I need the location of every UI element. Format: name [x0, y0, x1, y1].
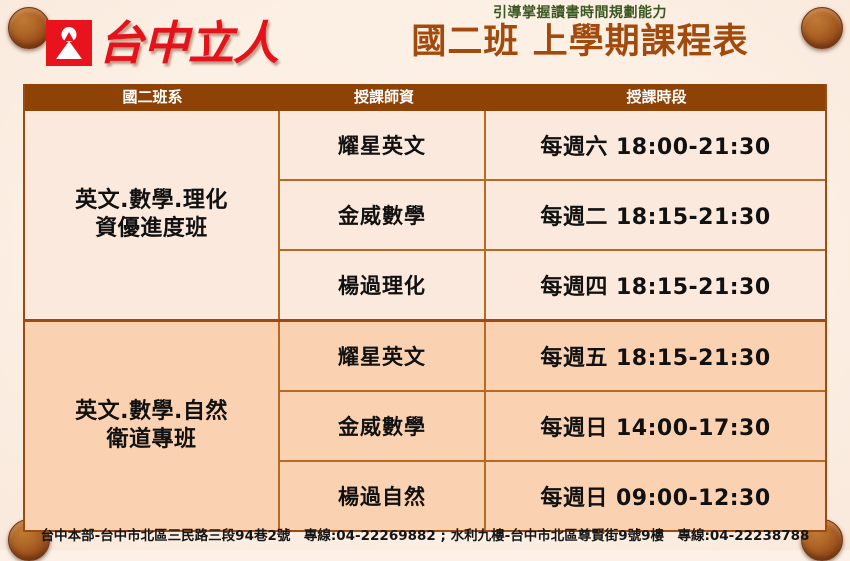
- time-cell: 每週五 18:15-21:30: [486, 322, 825, 390]
- program-name-line2: 資優進度班: [75, 215, 228, 243]
- contact-footer: 台中本部-台中市北區三民路三段94巷2號 專線:04-22269882 ; 水利…: [0, 524, 850, 544]
- column-header-program: 國二班系: [25, 90, 280, 105]
- table-row: 金威數學 每週二 18:15-21:30: [280, 179, 825, 249]
- time-cell: 每週六 18:00-21:30: [486, 111, 825, 179]
- person-legs-notch: [64, 32, 74, 41]
- poster-canvas: 台中立人 引導掌握讀書時間規劃能力 國二班 上學期課程表 國二班系 授課師資 授…: [0, 0, 850, 550]
- time-cell: 每週二 18:15-21:30: [486, 181, 825, 249]
- table-row: 金威數學 每週日 14:00-17:30: [280, 390, 825, 460]
- teacher-cell: 耀星英文: [280, 322, 486, 390]
- program-name-line1: 英文.數學.理化: [75, 187, 228, 215]
- program-name-cell-1: 英文.數學.理化 資優進度班: [25, 111, 280, 319]
- time-cell: 每週四 18:15-21:30: [486, 251, 825, 319]
- table-row: 耀星英文 每週五 18:15-21:30: [280, 322, 825, 390]
- person-in-square-icon: [46, 20, 92, 66]
- page-title: 國二班 上學期課程表: [360, 23, 800, 62]
- teacher-cell: 楊過理化: [280, 251, 486, 319]
- program-group-2: 英文.數學.自然 衛道專班 耀星英文 每週五 18:15-21:30 金威數學 …: [25, 319, 825, 530]
- schedule-table: 國二班系 授課師資 授課時段 英文.數學.理化 資優進度班 耀星英文 每週六 1…: [23, 84, 827, 532]
- program-name-cell-2: 英文.數學.自然 衛道專班: [25, 322, 280, 530]
- brand-name: 台中立人: [98, 20, 278, 66]
- teacher-cell: 金威數學: [280, 392, 486, 460]
- course-rows-1: 耀星英文 每週六 18:00-21:30 金威數學 每週二 18:15-21:3…: [280, 111, 825, 319]
- brand-logo: 台中立人: [46, 20, 278, 66]
- time-cell: 每週日 09:00-12:30: [486, 462, 825, 530]
- poster-subtitle: 引導掌握讀書時間規劃能力: [360, 4, 800, 22]
- program-name-line2: 衛道專班: [75, 426, 228, 454]
- course-rows-2: 耀星英文 每週五 18:15-21:30 金威數學 每週日 14:00-17:3…: [280, 322, 825, 530]
- teacher-cell: 楊過自然: [280, 462, 486, 530]
- column-header-teacher: 授課師資: [280, 90, 488, 105]
- program-group-1: 英文.數學.理化 資優進度班 耀星英文 每週六 18:00-21:30 金威數學…: [25, 111, 825, 319]
- time-cell: 每週日 14:00-17:30: [486, 392, 825, 460]
- title-block: 引導掌握讀書時間規劃能力 國二班 上學期課程表: [360, 4, 800, 62]
- program-name-text-2: 英文.數學.自然 衛道專班: [75, 398, 228, 454]
- teacher-cell: 金威數學: [280, 181, 486, 249]
- program-name-line1: 英文.數學.自然: [75, 398, 228, 426]
- table-row: 楊過自然 每週日 09:00-12:30: [280, 460, 825, 530]
- person-body-shape: [56, 41, 82, 59]
- table-row: 楊過理化 每週四 18:15-21:30: [280, 249, 825, 319]
- table-row: 耀星英文 每週六 18:00-21:30: [280, 111, 825, 179]
- table-header-row: 國二班系 授課師資 授課時段: [25, 84, 825, 111]
- teacher-cell: 耀星英文: [280, 111, 486, 179]
- poster-header: 台中立人 引導掌握讀書時間規劃能力 國二班 上學期課程表: [0, 0, 850, 84]
- column-header-time: 授課時段: [488, 90, 825, 105]
- program-name-text-1: 英文.數學.理化 資優進度班: [75, 187, 228, 243]
